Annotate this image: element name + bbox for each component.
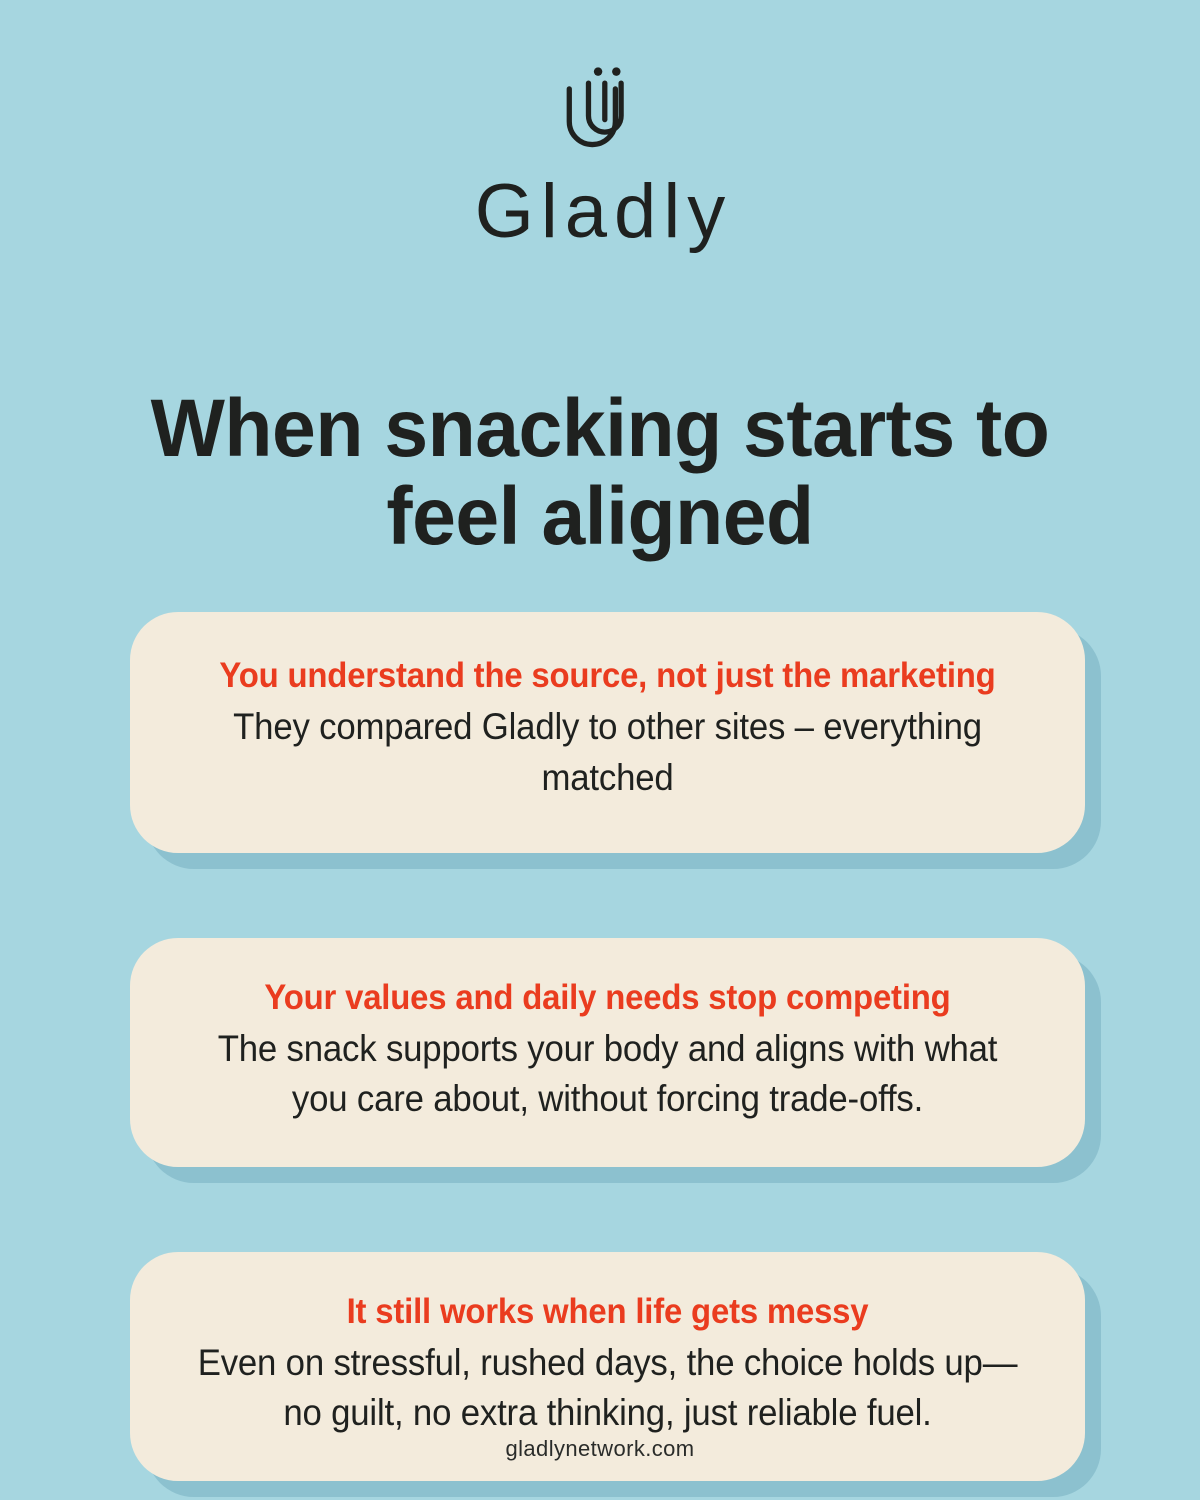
list-item: Your values and daily needs stop competi… — [130, 938, 1085, 1167]
logo-dot-left — [594, 67, 602, 75]
card-1-title: You understand the source, not just the … — [187, 656, 1028, 696]
gladly-logo-icon — [552, 62, 648, 158]
page-title: When snacking starts to feel aligned — [91, 385, 1109, 562]
brand-block: Gladly — [0, 62, 1200, 250]
card-2: Your values and daily needs stop competi… — [130, 938, 1085, 1167]
card-3-body: Even on stressful, rushed days, the choi… — [192, 1338, 1022, 1439]
card-2-title: Your values and daily needs stop competi… — [192, 978, 1022, 1018]
footer-website: gladlynetwork.com — [0, 1436, 1200, 1462]
card-3-title: It still works when life gets messy — [192, 1292, 1022, 1332]
logo-dot-right — [612, 67, 620, 75]
card-2-body: The snack supports your body and aligns … — [192, 1024, 1022, 1125]
card-1: You understand the source, not just the … — [130, 612, 1085, 853]
list-item: You understand the source, not just the … — [130, 612, 1085, 853]
cards-list: You understand the source, not just the … — [130, 612, 1085, 1481]
poster-root: Gladly When snacking starts to feel alig… — [0, 0, 1200, 1500]
card-1-body: They compared Gladly to other sites – ev… — [187, 702, 1028, 803]
brand-wordmark: Gladly — [0, 174, 1200, 250]
